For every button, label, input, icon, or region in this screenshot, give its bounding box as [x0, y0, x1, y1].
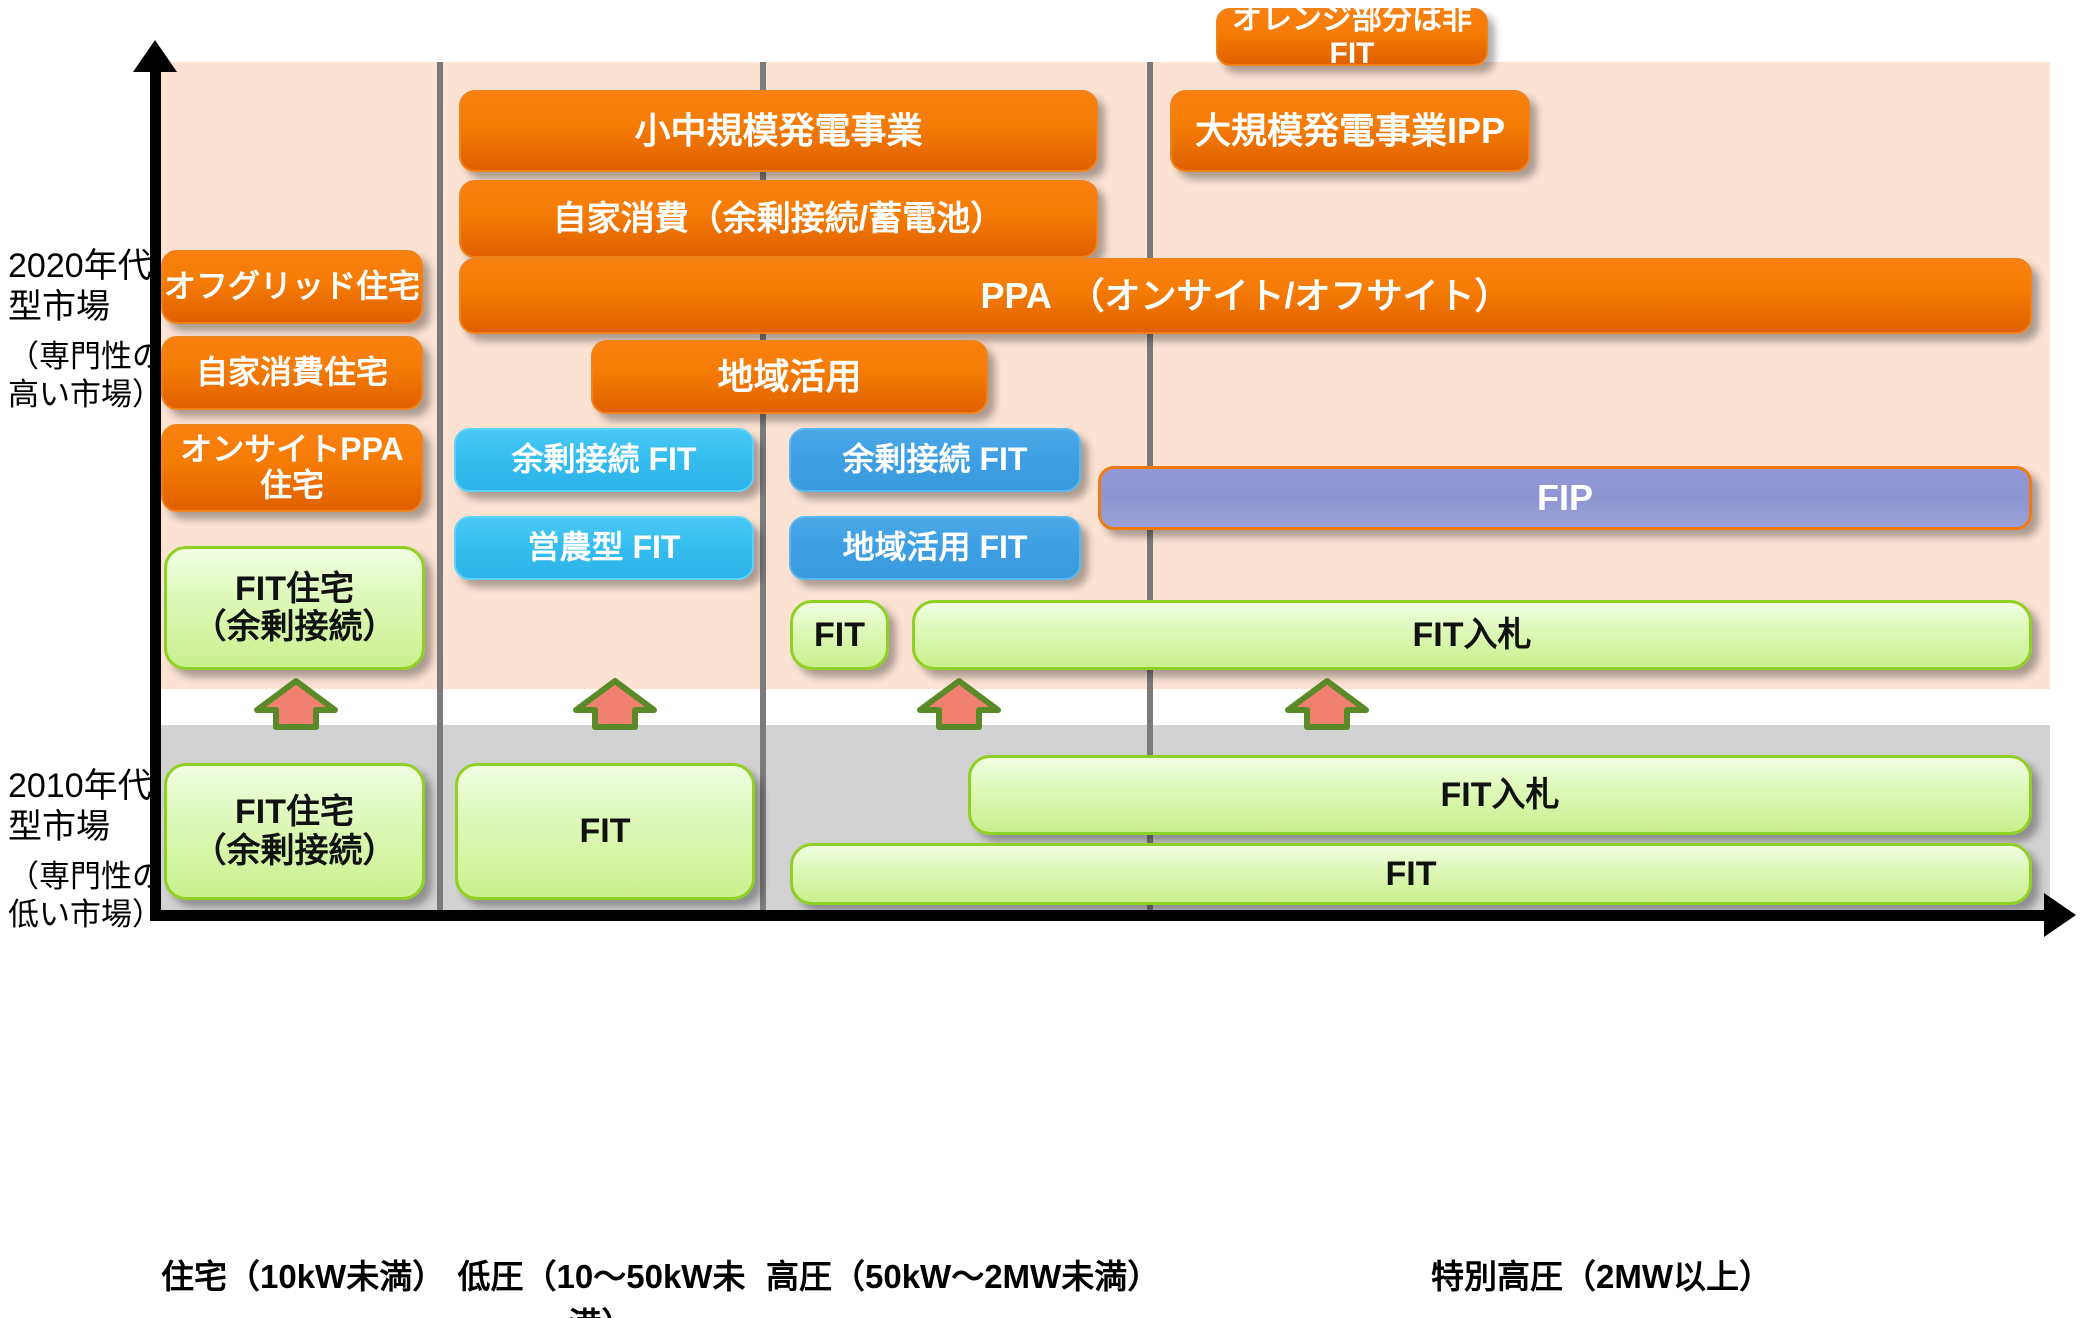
column-separator-1: [437, 62, 443, 910]
lower-market-note: （専門性の 低い市場）: [8, 858, 163, 934]
node-label: FIT住宅 （余剰接続）: [193, 570, 397, 646]
node-fit-auction-lower[interactable]: FIT入札: [968, 755, 2032, 835]
node-label: FIT: [580, 812, 631, 850]
node-label: FIT: [814, 616, 865, 654]
node-small-mid-generation[interactable]: 小中規模発電事業: [459, 90, 1098, 172]
node-label: オンサイトPPA 住宅: [180, 432, 403, 504]
node-surplus-fit-hv[interactable]: 余剰接続 FIT: [789, 428, 1081, 492]
node-self-consumption-housing[interactable]: 自家消費住宅: [161, 336, 423, 410]
node-agri-fit-lv[interactable]: 営農型 FIT: [454, 516, 754, 580]
node-label: 余剰接続 FIT: [512, 442, 697, 478]
node-label: 小中規模発電事業: [634, 111, 922, 151]
node-regional-use[interactable]: 地域活用: [591, 340, 988, 414]
node-label: 大規模発電事業IPP: [1195, 111, 1505, 151]
node-fit-housing-upper[interactable]: FIT住宅 （余剰接続）: [164, 546, 425, 670]
x-axis-line: [150, 910, 2050, 921]
node-large-generation-ipp[interactable]: 大規模発電事業IPP: [1170, 90, 1530, 172]
x-axis-arrow: [2044, 893, 2076, 937]
node-fit-auction-upper[interactable]: FIT入札: [912, 600, 2032, 670]
node-fip[interactable]: FIP: [1098, 466, 2032, 530]
upper-market-band: [161, 62, 2050, 689]
node-label: 自家消費（余剰接続/蓄電池）: [553, 200, 1004, 238]
y-axis-line: [150, 62, 161, 920]
diagram-canvas: 2020年代 型市場 （専門性の 高い市場） 2010年代 型市場 （専門性の …: [0, 0, 2094, 1318]
node-label: PPA （オンサイト/オフサイト）: [980, 276, 1510, 316]
node-label: オフグリッド住宅: [164, 269, 420, 305]
node-label: 営農型 FIT: [528, 530, 681, 566]
x-axis-label-extra-high-voltage: 特別高圧（2MW以上）: [1153, 1250, 2050, 1298]
node-surplus-fit-lv[interactable]: 余剰接続 FIT: [454, 428, 754, 492]
x-axis-label-low-voltage: 低圧（10〜50kW未満）: [443, 1250, 760, 1318]
transition-arrow-2: [573, 678, 657, 730]
legend-label: オレンジ部分は非FIT: [1218, 3, 1486, 70]
x-axis-label-residential: 住宅（10kW未満）: [161, 1250, 437, 1298]
transition-arrow-1: [254, 678, 338, 730]
node-ppa[interactable]: PPA （オンサイト/オフサイト）: [459, 258, 2032, 334]
node-label: 地域活用 FIT: [843, 530, 1028, 566]
node-label: FIT入札: [1441, 776, 1560, 814]
node-label: 地域活用: [717, 357, 861, 397]
node-fit-housing-lower[interactable]: FIT住宅 （余剰接続）: [164, 763, 425, 900]
transition-arrow-4: [1285, 678, 1369, 730]
node-label: FIP: [1537, 478, 1593, 518]
node-label: 余剰接続 FIT: [843, 442, 1028, 478]
node-label: FIT: [1386, 855, 1437, 893]
node-offgrid-housing[interactable]: オフグリッド住宅: [161, 250, 423, 324]
node-self-consumption[interactable]: 自家消費（余剰接続/蓄電池）: [459, 180, 1098, 258]
upper-market-note: （専門性の 高い市場）: [8, 338, 163, 414]
node-onsite-ppa-housing[interactable]: オンサイトPPA 住宅: [161, 424, 423, 512]
node-regional-fit-hv[interactable]: 地域活用 FIT: [789, 516, 1081, 580]
node-label: FIT住宅 （余剰接続）: [193, 793, 397, 869]
node-fit-hv-lower[interactable]: FIT: [790, 843, 2032, 905]
y-axis-arrow: [133, 40, 177, 72]
node-fit-lv-lower[interactable]: FIT: [455, 763, 755, 900]
node-fit-hv[interactable]: FIT: [790, 600, 889, 670]
upper-market-title: 2020年代 型市場: [8, 246, 152, 329]
x-axis-label-high-voltage: 高圧（50kW〜2MW未満）: [766, 1250, 1147, 1298]
transition-arrow-3: [917, 678, 1001, 730]
lower-market-title: 2010年代 型市場: [8, 766, 152, 849]
node-label: FIT入札: [1413, 616, 1532, 654]
node-label: 自家消費住宅: [196, 355, 388, 391]
legend-non-fit: オレンジ部分は非FIT: [1216, 8, 1488, 66]
